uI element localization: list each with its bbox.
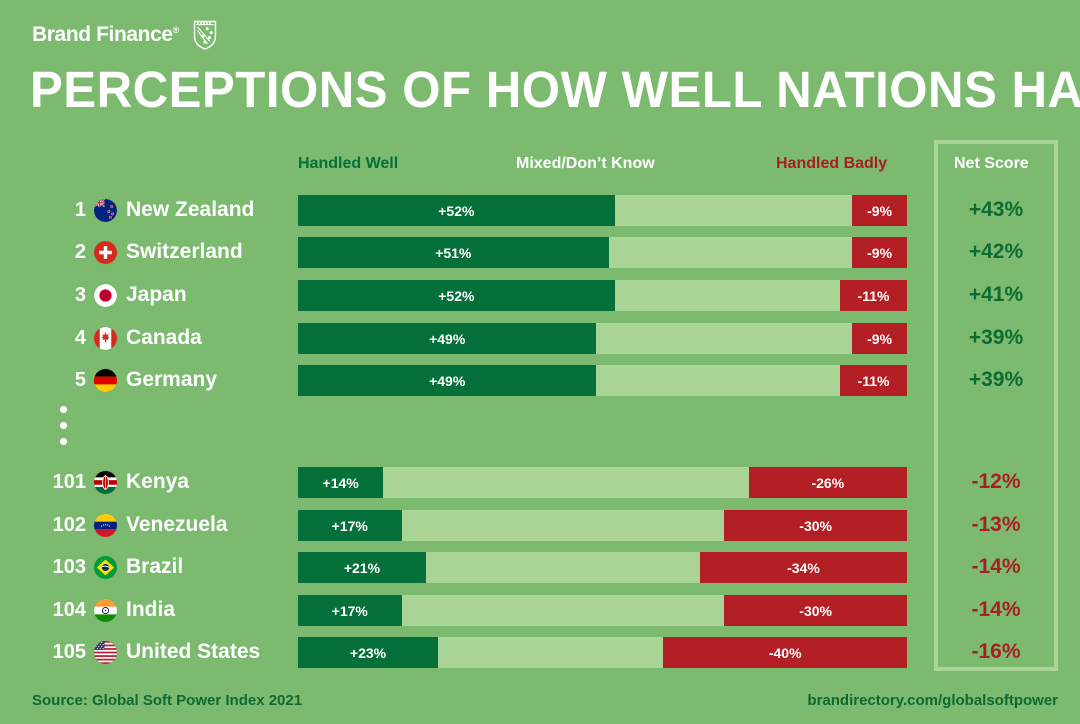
rank-number: 103 bbox=[30, 548, 86, 586]
bar-segment-handled-well: +17% bbox=[298, 510, 402, 541]
net-score-value: +39% bbox=[938, 361, 1054, 399]
rank-number: 1 bbox=[30, 191, 86, 229]
net-score-value: +39% bbox=[938, 319, 1054, 357]
rank-number: 4 bbox=[30, 319, 86, 357]
country-name: Brazil bbox=[126, 548, 183, 586]
net-score-value: -12% bbox=[938, 463, 1054, 501]
stacked-bar: +17%-30% bbox=[298, 510, 907, 541]
bar-segment-handled-well: +52% bbox=[298, 280, 615, 311]
flag-canada-icon bbox=[94, 327, 117, 350]
bar-segment-mixed bbox=[615, 280, 840, 311]
bar-segment-handled-well: +14% bbox=[298, 467, 383, 498]
country-name: Venezuela bbox=[126, 506, 228, 544]
chart-row: 103 Brazil+21%-34%-14% bbox=[0, 548, 1080, 586]
bar-segment-handled-badly: -30% bbox=[724, 510, 907, 541]
rank-number: 5 bbox=[30, 361, 86, 399]
net-score-value: -13% bbox=[938, 506, 1054, 544]
chart-row: 3 Japan+52%-11%+41% bbox=[0, 276, 1080, 314]
chart-row: 4 Canada+49%-9%+39% bbox=[0, 319, 1080, 357]
stacked-bar: +52%-9% bbox=[298, 195, 907, 226]
bar-segment-handled-badly: -9% bbox=[852, 237, 907, 268]
chart-row: 2 Switzerland+51%-9%+42% bbox=[0, 233, 1080, 271]
rank-number: 105 bbox=[30, 633, 86, 671]
bar-segment-handled-well: +21% bbox=[298, 552, 426, 583]
rank-number: 2 bbox=[30, 233, 86, 271]
stacked-bar: +51%-9% bbox=[298, 237, 907, 268]
bar-segment-handled-well: +23% bbox=[298, 637, 438, 668]
net-score-value: +41% bbox=[938, 276, 1054, 314]
chart-row: 105 United States+23%-40%-16% bbox=[0, 633, 1080, 671]
bar-segment-handled-badly: -11% bbox=[840, 365, 907, 396]
country-name: United States bbox=[126, 633, 260, 671]
stacked-bar: +52%-11% bbox=[298, 280, 907, 311]
brand-name: Brand Finance® bbox=[32, 23, 179, 47]
bar-segment-handled-badly: -40% bbox=[663, 637, 907, 668]
shield-crest-icon bbox=[193, 20, 217, 50]
country-name: Kenya bbox=[126, 463, 189, 501]
chart-row: 101 Kenya+14%-26%-12% bbox=[0, 463, 1080, 501]
footer-url[interactable]: brandirectory.com/globalsoftpower bbox=[807, 692, 1058, 709]
column-header-handled-badly: Handled Badly bbox=[776, 155, 887, 173]
flag-venezuela-icon bbox=[94, 514, 117, 537]
flag-brazil-icon bbox=[94, 556, 117, 579]
rank-number: 3 bbox=[30, 276, 86, 314]
bar-segment-handled-well: +17% bbox=[298, 595, 402, 626]
brand-name-text: Brand Finance bbox=[32, 23, 173, 46]
bar-segment-handled-well: +52% bbox=[298, 195, 615, 226]
stacked-bar: +23%-40% bbox=[298, 637, 907, 668]
page-title: PERCEPTIONS OF HOW WELL NATIONS HANDLED … bbox=[30, 62, 1024, 118]
bar-segment-handled-badly: -26% bbox=[749, 467, 907, 498]
bar-segment-handled-badly: -9% bbox=[852, 323, 907, 354]
flag-switzerland-icon bbox=[94, 241, 117, 264]
source-note: Source: Global Soft Power Index 2021 bbox=[32, 692, 302, 709]
vertical-ellipsis-icon bbox=[60, 406, 67, 445]
rank-number: 101 bbox=[30, 463, 86, 501]
country-name: Japan bbox=[126, 276, 187, 314]
ellipsis-dot bbox=[60, 422, 67, 429]
bar-segment-mixed bbox=[615, 195, 853, 226]
bar-segment-handled-badly: -11% bbox=[840, 280, 907, 311]
chart-row: 102 Venezuela+17%-30%-13% bbox=[0, 506, 1080, 544]
column-header-mixed: Mixed/Don’t Know bbox=[516, 155, 655, 173]
net-score-value: +43% bbox=[938, 191, 1054, 229]
chart-row: 1 New Zealand+52%-9%+43% bbox=[0, 191, 1080, 229]
bar-segment-mixed bbox=[402, 595, 725, 626]
net-score-value: -14% bbox=[938, 591, 1054, 629]
infographic-canvas: Brand Finance® bbox=[0, 0, 1080, 724]
bar-segment-handled-badly: -9% bbox=[852, 195, 907, 226]
flag-india-icon bbox=[94, 599, 117, 622]
bar-segment-mixed bbox=[609, 237, 853, 268]
flag-united-states-icon bbox=[94, 641, 117, 664]
country-name: India bbox=[126, 591, 175, 629]
net-score-value: -16% bbox=[938, 633, 1054, 671]
bar-segment-mixed bbox=[383, 467, 748, 498]
bar-segment-handled-badly: -34% bbox=[700, 552, 907, 583]
ellipsis-dot bbox=[60, 438, 67, 445]
column-header-handled-well: Handled Well bbox=[298, 155, 398, 173]
bar-segment-mixed bbox=[596, 365, 840, 396]
stacked-bar: +14%-26% bbox=[298, 467, 907, 498]
bar-segment-handled-well: +51% bbox=[298, 237, 609, 268]
stacked-bar: +49%-11% bbox=[298, 365, 907, 396]
net-score-value: +42% bbox=[938, 233, 1054, 271]
bar-segment-mixed bbox=[402, 510, 725, 541]
ellipsis-dot bbox=[60, 406, 67, 413]
registered-trademark-icon: ® bbox=[173, 25, 179, 35]
bar-segment-mixed bbox=[426, 552, 700, 583]
rank-number: 102 bbox=[30, 506, 86, 544]
brand-logo: Brand Finance® bbox=[32, 18, 217, 52]
flag-germany-icon bbox=[94, 369, 117, 392]
stacked-bar: +17%-30% bbox=[298, 595, 907, 626]
flag-japan-icon bbox=[94, 284, 117, 307]
bar-segment-handled-well: +49% bbox=[298, 365, 596, 396]
stacked-bar: +49%-9% bbox=[298, 323, 907, 354]
bar-segment-mixed bbox=[438, 637, 663, 668]
rank-number: 104 bbox=[30, 591, 86, 629]
country-name: Canada bbox=[126, 319, 202, 357]
country-name: Germany bbox=[126, 361, 217, 399]
chart-row: 5 Germany+49%-11%+39% bbox=[0, 361, 1080, 399]
chart-row: 104 India+17%-30%-14% bbox=[0, 591, 1080, 629]
flag-kenya-icon bbox=[94, 471, 117, 494]
bar-segment-mixed bbox=[596, 323, 852, 354]
bar-segment-handled-well: +49% bbox=[298, 323, 596, 354]
stacked-bar: +21%-34% bbox=[298, 552, 907, 583]
country-name: Switzerland bbox=[126, 233, 243, 271]
bar-segment-handled-badly: -30% bbox=[724, 595, 907, 626]
column-header-net-score: Net Score bbox=[954, 155, 1029, 173]
flag-new-zealand-icon bbox=[94, 199, 117, 222]
net-score-value: -14% bbox=[938, 548, 1054, 586]
country-name: New Zealand bbox=[126, 191, 254, 229]
